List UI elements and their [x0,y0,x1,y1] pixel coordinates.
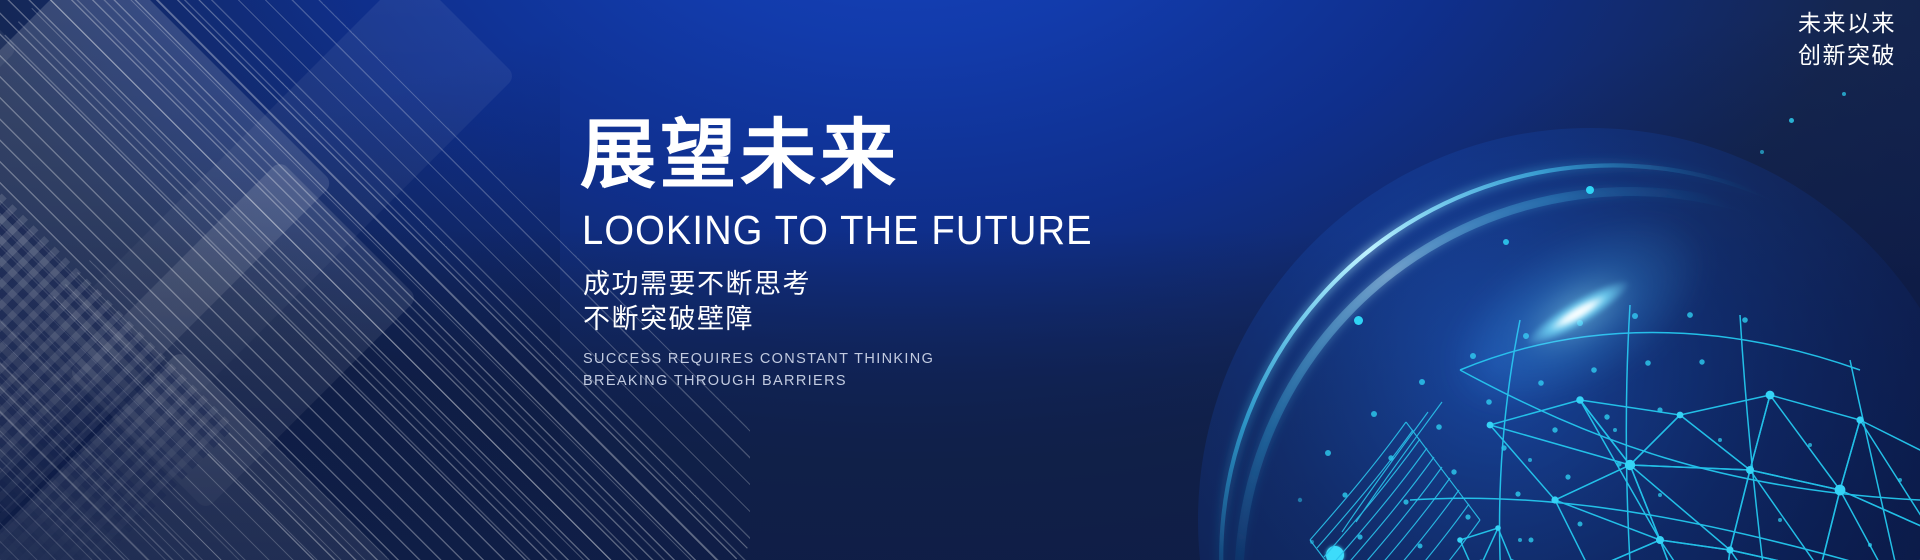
corner-slogan-line-2: 创新突破 [1798,40,1896,72]
accent-dot [1354,316,1363,325]
subtitle-english: SUCCESS REQUIRES CONSTANT THINKING BREAK… [583,348,1340,392]
headline-block: 展望未来 LOOKING TO THE FUTURE 成功需要不断思考 不断突破… [580,118,1340,392]
accent-dot [1760,150,1764,154]
subtitle-chinese-line-1: 成功需要不断思考 [583,267,1340,302]
subtitle-english-line-2: BREAKING THROUGH BARRIERS [583,370,1340,392]
subtitle-english-line-1: SUCCESS REQUIRES CONSTANT THINKING [583,348,1340,370]
accent-dot [1842,92,1846,96]
corner-slogan-line-1: 未来以来 [1798,8,1896,40]
accent-dot [1789,118,1794,123]
corner-slogan: 未来以来 创新突破 [1798,8,1896,71]
page-title-english: LOOKING TO THE FUTURE [582,210,1287,251]
subtitle-chinese-line-2: 不断突破壁障 [583,302,1340,337]
page-title: 展望未来 [580,118,1340,194]
subtitle-chinese: 成功需要不断思考 不断突破壁障 [583,267,1340,337]
accent-dot [1503,239,1509,245]
accent-dot [1586,186,1594,194]
hero-banner: 展望未来 LOOKING TO THE FUTURE 成功需要不断思考 不断突破… [0,0,1920,560]
